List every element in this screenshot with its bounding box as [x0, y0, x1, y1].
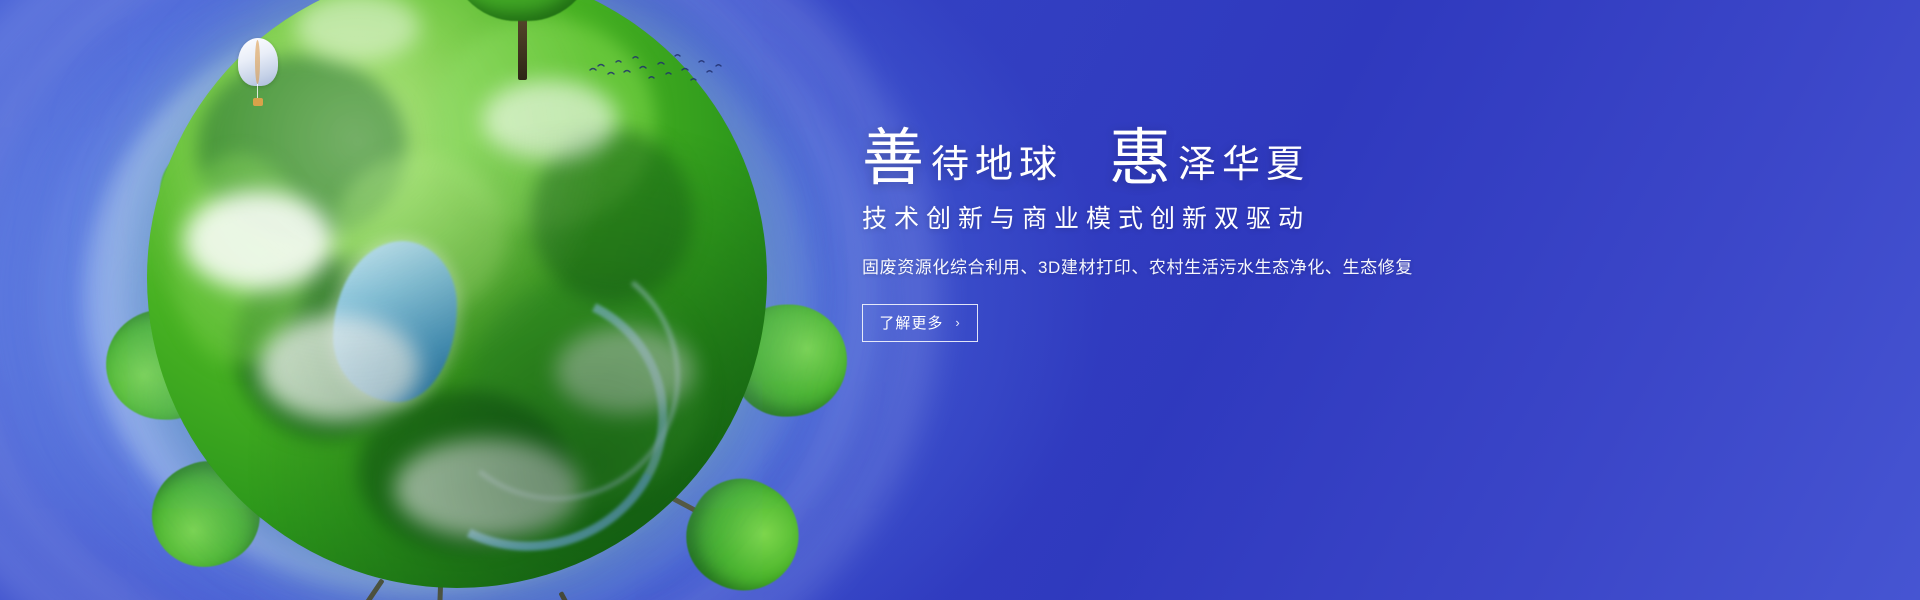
hero-banner: 善 待地球 惠 泽华夏 技术创新与商业模式创新双驱动 固废资源化综合利用、3D建… [0, 0, 1920, 600]
hot-air-balloon-icon [238, 38, 278, 112]
headline-primary-1: 善 [862, 128, 925, 190]
bird-flock-icon [586, 48, 726, 94]
hero-description: 固废资源化综合利用、3D建材打印、农村生活污水生态净化、生态修复 [862, 256, 1562, 280]
tree-icon-large [447, 0, 597, 80]
learn-more-button[interactable]: 了解更多 › [862, 304, 978, 342]
page-title: 善 待地球 惠 泽华夏 [862, 128, 1562, 190]
headline-secondary-2: 泽华夏 [1178, 146, 1310, 190]
learn-more-label: 了解更多 [879, 312, 943, 333]
chevron-right-icon: › [955, 315, 960, 330]
hero-content: 善 待地球 惠 泽华夏 技术创新与商业模式创新双驱动 固废资源化综合利用、3D建… [862, 128, 1562, 342]
headline-primary-2: 惠 [1109, 128, 1172, 190]
hero-subtitle: 技术创新与商业模式创新双驱动 [862, 204, 1562, 234]
headline-secondary-1: 待地球 [931, 146, 1063, 190]
